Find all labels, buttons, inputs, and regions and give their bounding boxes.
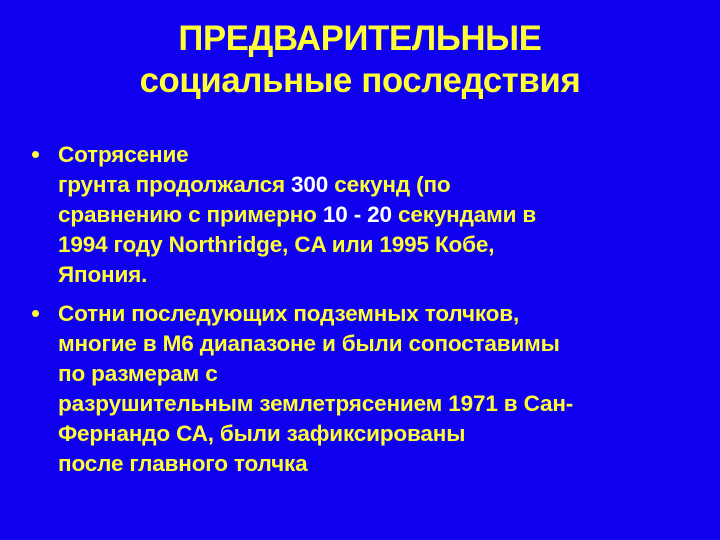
bullet-line: разрушительным землетрясением 1971 в Сан… (58, 389, 716, 419)
slide-body: Сотрясениегрунта продолжался 300 секунд … (26, 140, 716, 488)
bullet-line: Сотрясение (58, 140, 716, 170)
bullet-dot-icon (32, 151, 39, 158)
bullet-line: Япония. (58, 260, 716, 290)
bullet-text: Сотни последующих подземных толчков,мног… (58, 299, 716, 479)
text-run: Япония. (58, 262, 147, 287)
title-line-1: ПРЕДВАРИТЕЛЬНЫЕ (4, 18, 717, 60)
bullet-item: Сотрясениегрунта продолжался 300 секунд … (26, 140, 716, 290)
text-run: по размерам с (58, 361, 218, 386)
text-run: разрушительным землетрясением 1971 в Сан… (58, 391, 573, 416)
bullet-line: по размерам с (58, 359, 716, 389)
text-run: 1994 году Northridge, CA или 1995 Кобе, (58, 232, 494, 257)
bullet-dot-icon (32, 310, 39, 317)
bullet-line: 1994 году Northridge, CA или 1995 Кобе, (58, 230, 716, 260)
text-run: сравнению с примерно (58, 202, 323, 227)
bullet-line: после главного толчка (58, 449, 716, 479)
text-run: секундами в (392, 202, 536, 227)
highlighted-value: 10 - 20 (323, 202, 392, 227)
text-run: грунта продолжался (58, 172, 291, 197)
text-run: многие в М6 диапазоне и были сопоставимы (58, 331, 560, 356)
text-run: секунд (по (328, 172, 450, 197)
title-line-2: социальные последствия (4, 60, 717, 102)
bullet-text: Сотрясениегрунта продолжался 300 секунд … (58, 140, 716, 290)
bullet-line: многие в М6 диапазоне и были сопоставимы (58, 329, 716, 359)
slide-title: ПРЕДВАРИТЕЛЬНЫЕ социальные последствия (0, 18, 720, 102)
bullet-line: Фернандо СА, были зафиксированы (58, 419, 716, 449)
bullet-item: Сотни последующих подземных толчков,мног… (26, 299, 716, 479)
bullet-line: сравнению с примерно 10 - 20 секундами в (58, 200, 716, 230)
bullet-line: Сотни последующих подземных толчков, (58, 299, 716, 329)
slide-canvas: ПРЕДВАРИТЕЛЬНЫЕ социальные последствия С… (0, 0, 720, 540)
text-run: Сотрясение (58, 142, 189, 167)
text-run: Сотни последующих подземных толчков, (58, 301, 519, 326)
text-run: Фернандо СА, были зафиксированы (58, 421, 465, 446)
bullet-line: грунта продолжался 300 секунд (по (58, 170, 716, 200)
highlighted-value: 300 (291, 172, 328, 197)
text-run: после главного толчка (58, 451, 308, 476)
